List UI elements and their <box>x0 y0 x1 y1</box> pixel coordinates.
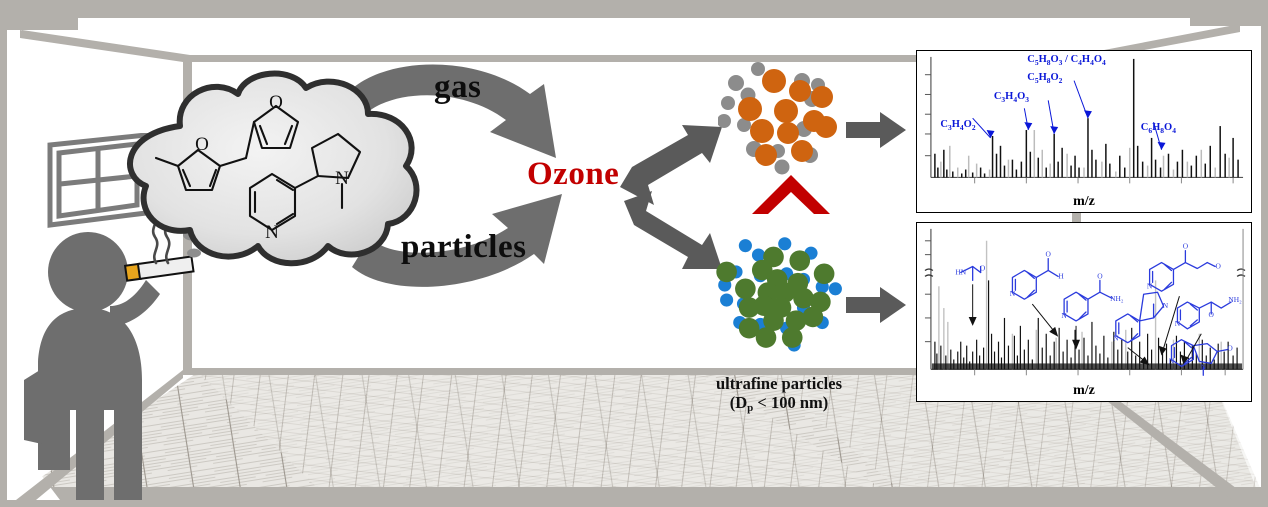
graphical-abstract-figure: gas particles Ozone <box>0 0 1268 507</box>
figure-border <box>0 0 1268 507</box>
